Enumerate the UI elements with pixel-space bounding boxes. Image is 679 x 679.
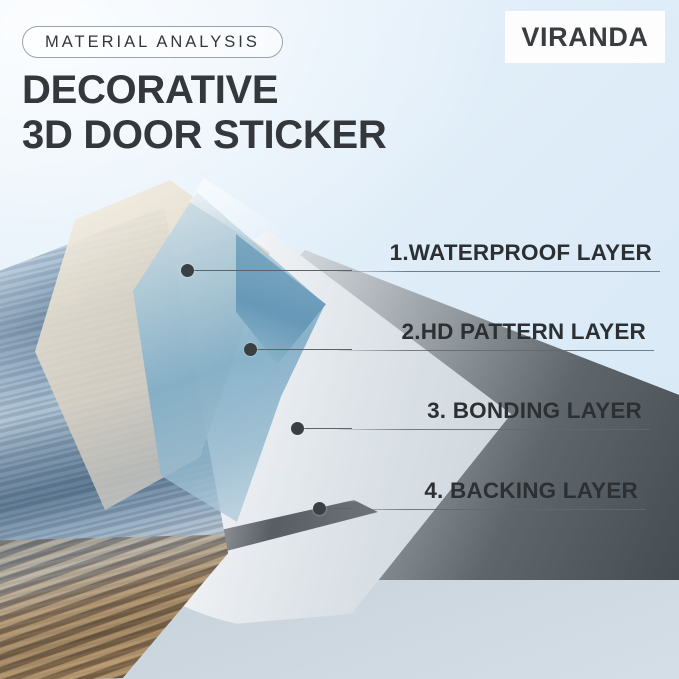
page-title: DECORATIVE 3D DOOR STICKER (22, 68, 492, 158)
brand-name: VIRANDA (521, 22, 648, 53)
product-infographic-poster: MATERIAL ANALYSIS DECORATIVE 3D DOOR STI… (0, 0, 679, 679)
page-title-line-2: 3D DOOR STICKER (22, 113, 492, 158)
callout-label-4: 4. BACKING LAYER (424, 478, 638, 504)
material-analysis-badge: MATERIAL ANALYSIS (22, 26, 283, 58)
callout-rule-3 (338, 429, 650, 430)
callout-dot-4 (313, 502, 326, 515)
callout-dot-3 (291, 422, 304, 435)
callout-rule-2 (338, 350, 654, 351)
callout-dot-1 (181, 264, 194, 277)
callout-rule-1 (338, 271, 660, 272)
badge-label: MATERIAL ANALYSIS (45, 33, 260, 52)
callout-label-2: 2.HD PATTERN LAYER (402, 319, 646, 345)
callout-label-1: 1.WATERPROOF LAYER (390, 240, 652, 266)
brand-logo-box: VIRANDA (506, 12, 664, 62)
callout-label-3: 3. BONDING LAYER (427, 398, 642, 424)
page-title-line-1: DECORATIVE (22, 68, 492, 113)
callout-dot-2 (244, 343, 257, 356)
leader-line-1 (194, 270, 352, 271)
callout-rule-4 (338, 509, 646, 510)
